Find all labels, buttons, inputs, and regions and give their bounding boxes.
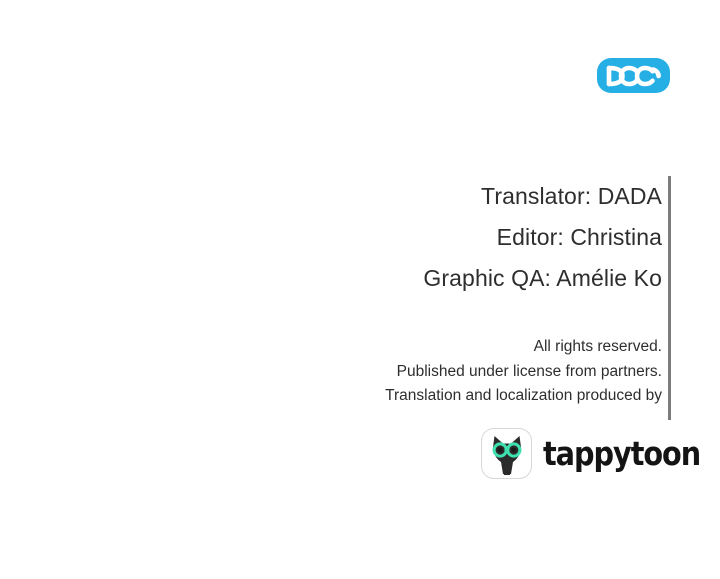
credit-line-graphic-qa: Graphic QA: Amélie Ko bbox=[200, 258, 662, 299]
legal-line-rights: All rights reserved. bbox=[200, 335, 662, 360]
tappytoon-cat-icon bbox=[481, 428, 532, 479]
dcc-logo bbox=[597, 58, 670, 93]
tappytoon-wordmark: tappytoon bbox=[543, 437, 700, 470]
credit-line-translator: Translator: DADA bbox=[200, 176, 662, 217]
credits-page: Translator: DADA Editor: Christina Graph… bbox=[0, 0, 720, 579]
credits-block: Translator: DADA Editor: Christina Graph… bbox=[200, 176, 662, 299]
vertical-divider bbox=[668, 176, 671, 420]
credit-line-editor: Editor: Christina bbox=[200, 217, 662, 258]
legal-line-localization: Translation and localization produced by bbox=[200, 384, 662, 409]
tappytoon-logo: tappytoon bbox=[481, 428, 720, 479]
cat-face-icon bbox=[485, 432, 529, 476]
dcc-wordmark-icon bbox=[605, 65, 663, 87]
legal-line-license: Published under license from partners. bbox=[200, 360, 662, 385]
legal-block: All rights reserved. Published under lic… bbox=[200, 335, 662, 409]
